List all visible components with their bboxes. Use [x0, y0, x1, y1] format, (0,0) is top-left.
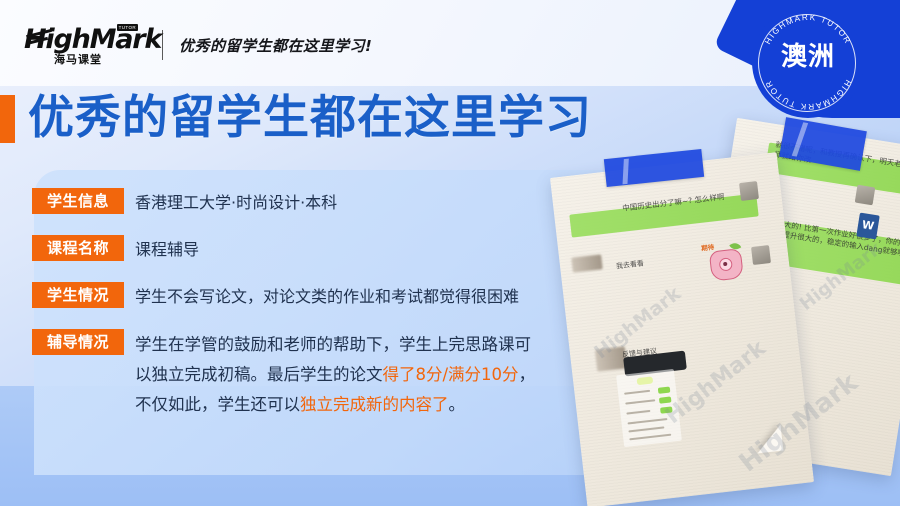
- list-line-3: [626, 410, 650, 415]
- list-line-6: [629, 434, 671, 441]
- avatar-2: [751, 245, 771, 265]
- svg-text:HIGHMARK TUTOR: HIGHMARK TUTOR: [763, 78, 852, 111]
- list-line-2: [625, 399, 655, 404]
- page-title: 优秀的留学生都在这里学习: [28, 88, 592, 146]
- tutoring-line-2b: ，: [519, 365, 536, 384]
- row-tag-student-situation: 学生情况: [32, 282, 124, 308]
- tutoring-score-highlight: 得了8分/满分10分: [383, 365, 519, 384]
- tutoring-line-1: 学生在学管的鼓励和老师的帮助下，学生上完思路课可: [135, 335, 531, 354]
- list-line-4: [628, 418, 668, 425]
- word-document-icon: W: [856, 213, 880, 240]
- avatar-1: [739, 181, 759, 201]
- tutoring-line-3b: 。: [449, 395, 466, 414]
- list-line-1: [624, 390, 650, 395]
- brand-logo: HighMark TUTOR 海马课堂 优秀的留学生都在这里学习!: [24, 26, 372, 64]
- header-tagline: 优秀的留学生都在这里学习!: [179, 35, 372, 56]
- list-pill-title: [637, 376, 654, 385]
- title-accent-bar: [0, 95, 15, 143]
- header-divider: [162, 30, 163, 60]
- logo-chinese-name: 海马课堂: [54, 51, 102, 67]
- logo-trademark: TUTOR: [117, 24, 138, 31]
- mascot-eye: [722, 261, 726, 265]
- row-value-course-name: 课程辅导: [135, 235, 199, 263]
- avatar-3: [855, 185, 876, 206]
- list-green-1: [658, 387, 671, 394]
- row-tag-tutoring: 辅导情况: [32, 329, 124, 355]
- svg-text:HIGHMARK TUTOR: HIGHMARK TUTOR: [763, 13, 852, 46]
- tutoring-outcome-highlight: 独立完成新的内容了: [300, 395, 449, 414]
- tutoring-line-2a: 以独立完成初稿。最后学生的论文: [135, 365, 383, 384]
- paper-collage: 就很不错呢，和教授再确认下，明天老师就给你改 进步很大的! 比第一次作业好很多了…: [560, 126, 900, 506]
- logo-mark: HighMark TUTOR 海马课堂: [24, 26, 136, 64]
- tutoring-line-3a: 不仅如此，学生还可以: [135, 395, 300, 414]
- row-tag-course-name: 课程名称: [32, 235, 124, 261]
- list-line-5: [628, 426, 664, 432]
- mascot-sticker-icon: 期待: [706, 242, 744, 282]
- row-value-tutoring: 学生在学管的鼓励和老师的帮助下，学生上完思路课可 以独立完成初稿。最后学生的论文…: [135, 329, 535, 420]
- page-header: HighMark TUTOR 海马课堂 优秀的留学生都在这里学习! HIGHMA…: [0, 0, 900, 86]
- row-value-student-situation: 学生不会写论文，对论文类的作业和考试都觉得很困难: [135, 282, 519, 310]
- row-value-student-info: 香港理工大学·时尚设计·本科: [135, 188, 337, 216]
- row-tag-student-info: 学生信息: [32, 188, 124, 214]
- mascot-label: 期待: [701, 241, 715, 252]
- badge-country-label: 澳洲: [766, 44, 850, 70]
- poster-canvas: HighMark TUTOR 海马课堂 优秀的留学生都在这里学习! HIGHMA…: [0, 0, 900, 506]
